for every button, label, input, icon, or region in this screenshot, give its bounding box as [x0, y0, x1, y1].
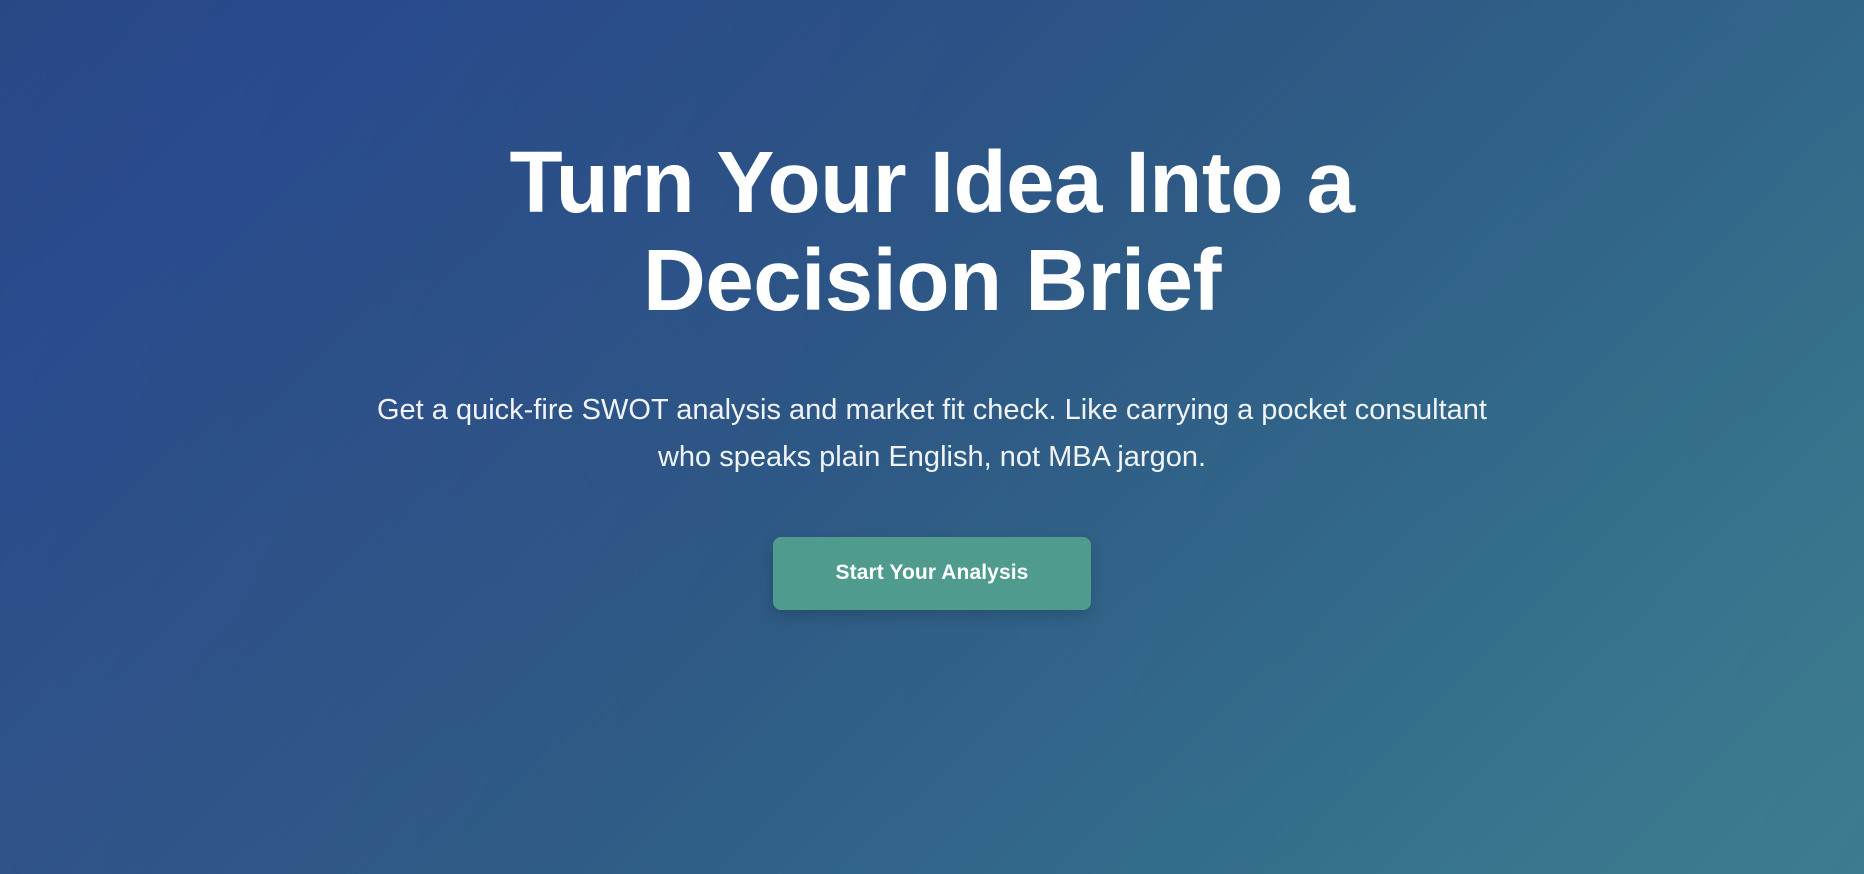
page-title-line-1: Turn Your Idea Into a	[509, 134, 1354, 231]
hero-subtitle: Get a quick-fire SWOT analysis and marke…	[367, 387, 1497, 481]
cta-container: Start Your Analysis	[773, 537, 1091, 610]
page-title: Turn Your Idea Into a Decision Brief	[509, 134, 1354, 331]
hero-content: Turn Your Idea Into a Decision Brief Get…	[0, 0, 1864, 610]
page-title-line-2: Decision Brief	[643, 232, 1221, 329]
start-analysis-button[interactable]: Start Your Analysis	[773, 537, 1091, 610]
hero-section: Turn Your Idea Into a Decision Brief Get…	[0, 0, 1864, 874]
